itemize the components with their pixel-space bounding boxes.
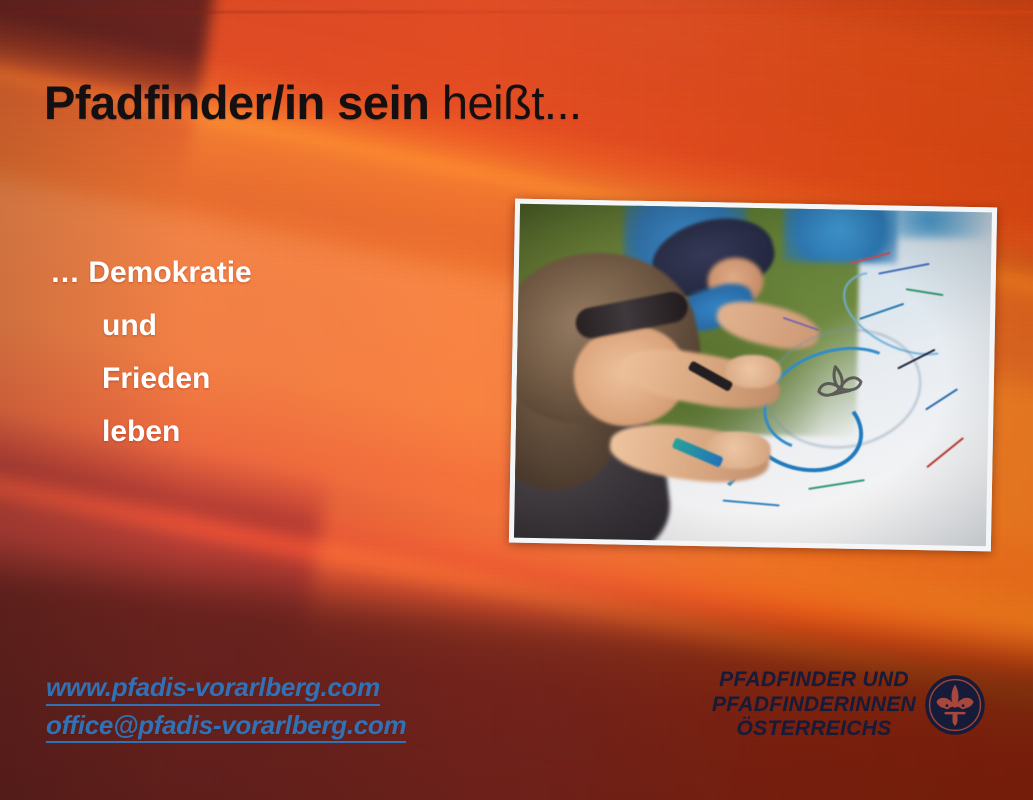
slogan-line-3: Frieden: [102, 364, 450, 394]
scout-fleur-de-lis-emblem-icon: [924, 674, 986, 736]
logo-line-1: PFADFINDER UND: [712, 668, 916, 693]
organisation-logo: PFADFINDER UND PFADFINDERINNEN ÖSTERREIC…: [712, 668, 986, 742]
scouts-banner-photo: [509, 199, 997, 552]
title-bold-part: Pfadfinder/in sein: [44, 76, 429, 129]
slogan-line-4: leben: [102, 417, 450, 447]
slogan-line-2: und: [102, 311, 450, 341]
logo-line-3: ÖSTERREICHS: [712, 717, 916, 742]
title-regular-part: heißt...: [429, 76, 581, 129]
website-link[interactable]: www.pfadis-vorarlberg.com: [46, 672, 380, 706]
photo-vignette: [514, 204, 992, 547]
page-title: Pfadfinder/in sein heißt...: [44, 78, 582, 127]
photo-content: [514, 204, 992, 547]
email-link[interactable]: office@pfadis-vorarlberg.com: [46, 710, 406, 744]
slogan-line-1: … Demokratie: [50, 258, 450, 288]
poster-slide: Pfadfinder/in sein heißt... … Demokratie…: [0, 0, 1033, 800]
contact-links: www.pfadis-vorarlberg.com office@pfadis-…: [46, 672, 406, 747]
paper-seam-line: [0, 11, 1033, 13]
slogan-block: … Demokratie und Frieden leben: [50, 258, 450, 447]
logo-wordmark: PFADFINDER UND PFADFINDERINNEN ÖSTERREIC…: [712, 668, 916, 742]
logo-line-2: PFADFINDERINNEN: [712, 693, 916, 718]
